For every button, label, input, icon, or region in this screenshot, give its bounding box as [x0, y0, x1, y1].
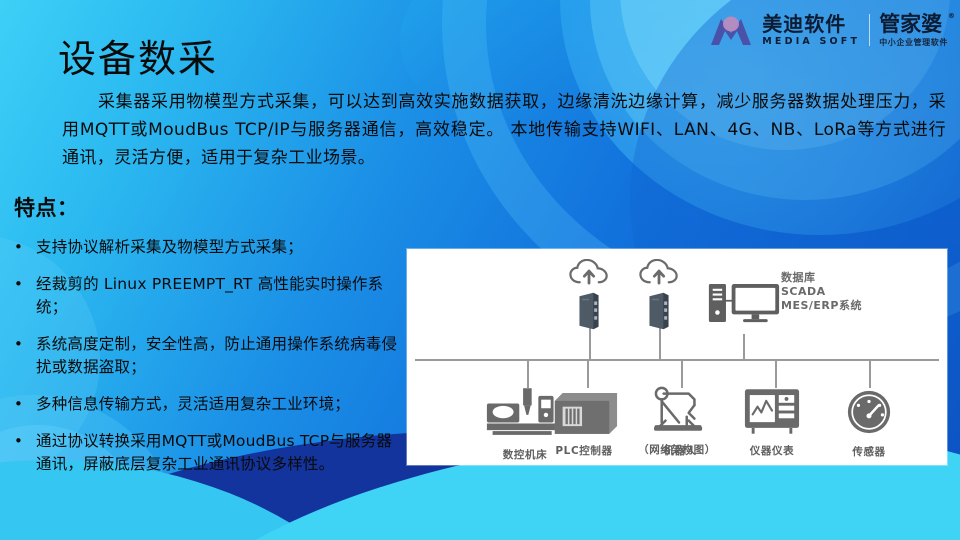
- list-item-text: 通过协议转换采用MQTT或MoudBus TCP与服务器通讯，屏蔽底层复杂工业通…: [36, 430, 406, 476]
- bullet-marker-icon: •: [14, 273, 36, 319]
- brand-name-cn: 美迪软件: [762, 14, 860, 34]
- system-label-line-3: MES/ERP系统: [781, 299, 862, 313]
- diagram-drop-cnc: [527, 360, 529, 388]
- list-item-text: 支持协议解析采集及物模型方式采集；: [36, 236, 303, 259]
- list-item: • 多种信息传输方式，灵活适用复杂工业环境；: [14, 393, 406, 416]
- trademark-mark: ®: [948, 13, 955, 20]
- network-architecture-panel: →: [407, 249, 947, 465]
- diagram-server-node: [707, 281, 781, 325]
- server-monitor-icon: [707, 281, 781, 325]
- logo-divider: [869, 14, 870, 46]
- gateway-device-icon: [646, 291, 672, 331]
- bullet-marker-icon: •: [14, 430, 36, 476]
- bullet-marker-icon: •: [14, 333, 36, 379]
- diagram-drop-sensor: [869, 360, 871, 388]
- features-list: • 支持协议解析采集及物模型方式采集； • 经裁剪的 Linux PREEMPT…: [14, 236, 406, 490]
- product-name-cn: 管家婆®: [879, 14, 948, 35]
- plc-controller-icon: [549, 389, 619, 436]
- diagram-drop-gateway-1: [589, 327, 591, 360]
- features-heading: 特点：: [14, 192, 79, 222]
- system-label-line-1: 数据库: [781, 271, 862, 285]
- diagram-drop-server: [743, 334, 745, 360]
- cloud-upload-icon: [639, 259, 679, 285]
- instrument-icon: [743, 387, 801, 436]
- brand-logo: 美迪软件 MEDIA SOFT 管家婆® 中小企业管理软件: [709, 8, 948, 52]
- sensor-gauge-icon: [842, 389, 896, 437]
- list-item-text: 系统高度定制，安全性高，防止通用操作系统病毒侵扰或数据盗取；: [36, 333, 406, 379]
- brand-block-media-soft: 美迪软件 MEDIA SOFT: [762, 14, 860, 47]
- list-item: • 通过协议转换采用MQTT或MoudBus TCP与服务器通讯，屏蔽底层复杂工…: [14, 430, 406, 476]
- list-item-text: 经裁剪的 Linux PREEMPT_RT 高性能实时操作系统；: [36, 273, 406, 319]
- list-item: • 系统高度定制，安全性高，防止通用操作系统病毒侵扰或数据盗取；: [14, 333, 406, 379]
- product-name-text: 管家婆: [879, 12, 942, 36]
- diagram-gateway-1: [569, 259, 609, 331]
- product-tagline: 中小企业管理软件: [879, 39, 948, 47]
- diagram-gateway-2: [639, 259, 679, 331]
- brand-name-en: MEDIA SOFT: [762, 37, 860, 47]
- list-item: • 支持协议解析采集及物模型方式采集；: [14, 236, 406, 259]
- bullet-marker-icon: •: [14, 393, 36, 416]
- slide-canvas: 美迪软件 MEDIA SOFT 管家婆® 中小企业管理软件 设备数采 采集器采用…: [0, 0, 960, 540]
- system-label-line-2: SCADA: [781, 285, 862, 299]
- media-soft-m-mark-icon: [709, 13, 753, 47]
- list-item: • 经裁剪的 Linux PREEMPT_RT 高性能实时操作系统；: [14, 273, 406, 319]
- lead-paragraph: 采集器采用物模型方式采集，可以达到高效实施数据获取，边缘清洗边缘计算，减少服务器…: [62, 88, 946, 172]
- diagram-bus-line: [415, 359, 939, 361]
- cloud-upload-icon: [569, 259, 609, 285]
- brand-block-product: 管家婆® 中小企业管理软件: [879, 14, 948, 47]
- system-label: 数据库 SCADA MES/ERP系统: [781, 271, 862, 313]
- list-item-text: 多种信息传输方式，灵活适用复杂工业环境；: [36, 393, 350, 416]
- robot-arm-icon: [650, 384, 710, 436]
- network-diagram: →: [407, 249, 947, 465]
- diagram-drop-plc: [587, 360, 589, 388]
- bullet-marker-icon: •: [14, 236, 36, 259]
- diagram-drop-gateway-2: [659, 327, 661, 360]
- gateway-device-icon: [576, 291, 602, 331]
- diagram-drop-instrument: [775, 360, 777, 388]
- diagram-caption: （网络架构图）: [407, 442, 947, 457]
- page-title: 设备数采: [58, 28, 218, 83]
